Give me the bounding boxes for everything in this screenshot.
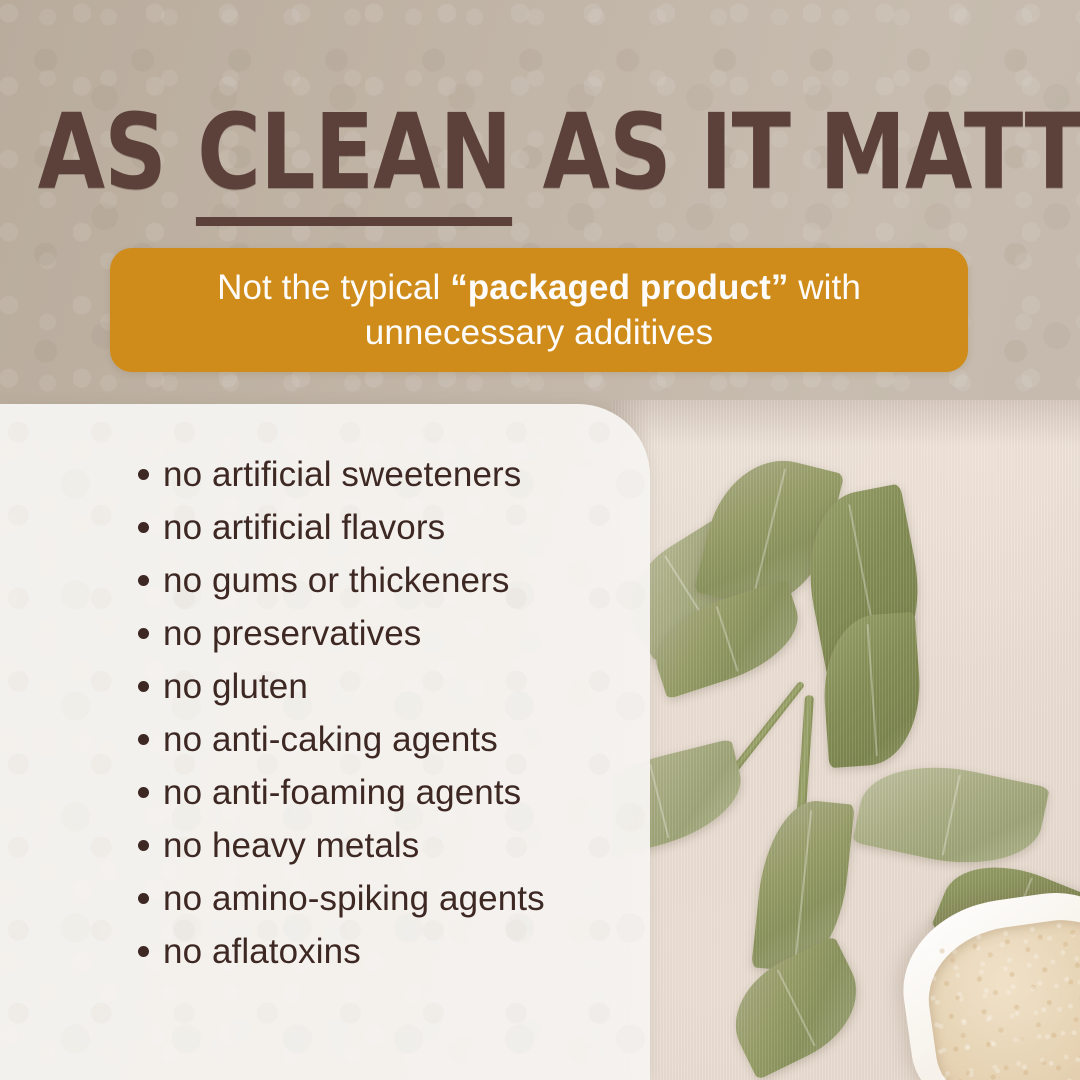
leaf-mid-left (644, 579, 811, 700)
list-item: no gums or thickeners (138, 561, 658, 614)
bullet-icon (138, 522, 149, 533)
list-item-label: no anti-foaming agents (163, 773, 521, 813)
photo-top-shadow (612, 400, 1080, 446)
poster-canvas: AS CLEAN AS IT MATTERS Not the typical “… (0, 0, 1080, 1080)
list-item: no amino-spiking agents (138, 879, 658, 932)
plant-stem-branch (726, 681, 805, 780)
list-item: no artificial sweeteners (138, 455, 658, 508)
leaf-bottom-center (716, 936, 877, 1080)
subtitle-banner: Not the typical “packaged product” with … (110, 248, 968, 372)
list-item: no aflatoxins (138, 932, 658, 985)
claims-list: no artificial sweeteners no artificial f… (138, 455, 658, 985)
list-item: no preservatives (138, 614, 658, 667)
headline-before: AS (38, 91, 196, 213)
headline-underlined-word: CLEAN (195, 91, 513, 213)
subtitle-lead: Not the typical (217, 268, 450, 307)
subtitle-emphasis: “packaged product” (450, 268, 788, 307)
leaf-lower-center (751, 796, 855, 976)
leaf-upper-right (794, 483, 934, 680)
leaf-upper-center (694, 446, 845, 620)
leaf-lower-right (852, 750, 1050, 880)
subtitle-text: Not the typical “packaged product” with … (110, 265, 968, 355)
plant-stem (789, 695, 814, 925)
list-item-label: no artificial flavors (163, 508, 445, 548)
list-item: no anti-foaming agents (138, 773, 658, 826)
leaf-mid-right (819, 612, 925, 768)
list-item-label: no aflatoxins (163, 932, 361, 972)
bullet-icon (138, 628, 149, 639)
bullet-icon (138, 734, 149, 745)
list-item: no artificial flavors (138, 508, 658, 561)
list-item-label: no artificial sweeteners (163, 455, 521, 495)
list-item-label: no gluten (163, 667, 308, 707)
bullet-icon (138, 787, 149, 798)
list-item: no gluten (138, 667, 658, 720)
page-title: AS CLEAN AS IT MATTERS (38, 104, 1042, 200)
list-item-label: no amino-spiking agents (163, 879, 545, 919)
list-item-label: no anti-caking agents (163, 720, 498, 760)
list-item: no heavy metals (138, 826, 658, 879)
bullet-icon (138, 946, 149, 957)
headline-after: AS IT MATTERS (513, 91, 1080, 213)
bullet-icon (138, 681, 149, 692)
list-item-label: no heavy metals (163, 826, 419, 866)
bullet-icon (138, 840, 149, 851)
list-item-label: no gums or thickeners (163, 561, 509, 601)
bullet-icon (138, 469, 149, 480)
bullet-icon (138, 893, 149, 904)
list-item-label: no preservatives (163, 614, 421, 654)
bullet-icon (138, 575, 149, 586)
powder-fill (920, 912, 1080, 1080)
list-item: no anti-caking agents (138, 720, 658, 773)
